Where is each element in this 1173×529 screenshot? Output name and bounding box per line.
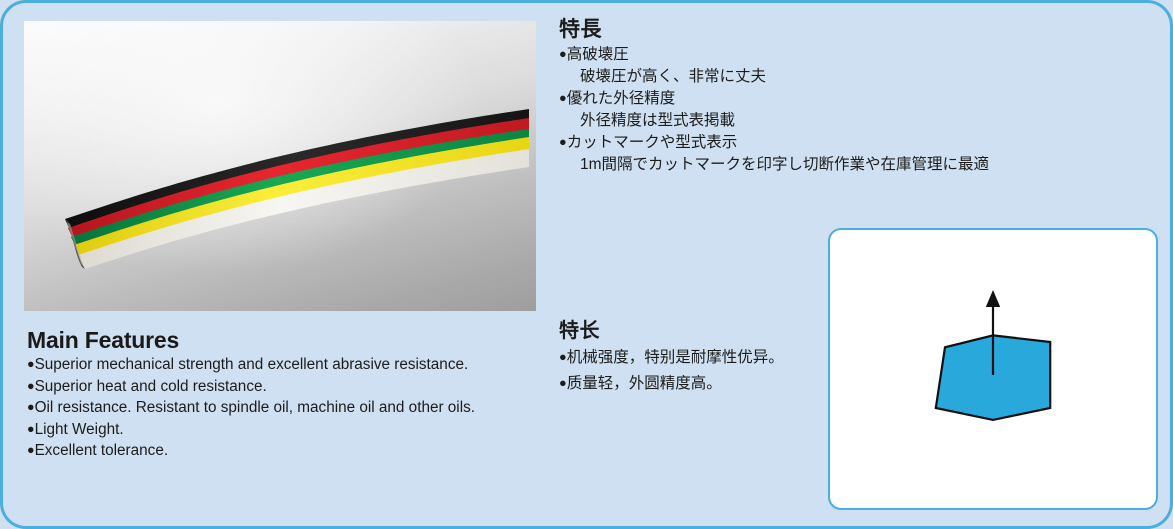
feature-text: Excellent tolerance. [35,442,169,459]
product-photo-frame [24,21,536,311]
main-features-list: ●Superior mechanical strength and excell… [27,354,537,462]
performance-radar-panel [828,228,1158,510]
jp-item-title: カットマークや型式表示 [567,134,738,151]
jp-features-heading: 特長 [559,17,1159,43]
feature-text: Light Weight. [35,421,124,438]
list-item: ●Superior mechanical strength and excell… [27,354,537,376]
jp-item-title: 優れた外径精度 [567,90,676,107]
feature-text: 质量轻，外圆精度高。 [567,375,722,392]
feature-text: Superior mechanical strength and excelle… [35,356,469,373]
list-item: ●机械强度，特别是耐摩性优异。 [559,344,839,370]
bullet-icon: ● [559,46,567,61]
radar-axis-arrow-flexibility [986,290,1000,307]
chinese-features-block: 特长 ●机械强度，特别是耐摩性优异。 ●质量轻，外圆精度高。 [559,319,839,396]
bullet-icon: ● [559,134,567,149]
tube-ribbon-illustration [24,21,536,311]
bullet-icon: ● [27,379,35,393]
jp-item-detail: 1m間隔でカットマークを印字し切断作業や在庫管理に最適 [559,154,1159,176]
bullet-icon: ● [559,375,567,390]
list-item: ●Superior heat and cold resistance. [27,376,537,398]
list-item: ●质量轻，外圆精度高。 [559,370,839,396]
bullet-icon: ● [27,400,35,414]
feature-text: 机械强度，特别是耐摩性优异。 [567,349,784,366]
cn-features-heading: 特长 [559,319,839,344]
english-features-block: Main Features ●Superior mechanical stren… [27,327,537,462]
page-container: 特長 ●高破壊圧 破壊圧が高く、非常に丈夫 ●優れた外径精度 外径精度は型式表掲… [0,0,1173,529]
jp-item-title: 高破壊圧 [567,46,629,63]
japanese-features-block: 特長 ●高破壊圧 破壊圧が高く、非常に丈夫 ●優れた外径精度 外径精度は型式表掲… [559,17,1159,175]
bullet-icon: ● [559,90,567,105]
main-features-heading: Main Features [27,327,537,354]
jp-item-detail: 破壊圧が高く、非常に丈夫 [559,66,1159,88]
list-item: ●Excellent tolerance. [27,440,537,462]
bullet-icon: ● [559,349,567,364]
list-item: ●Oil resistance. Resistant to spindle oi… [27,397,537,419]
feature-text: Superior heat and cold resistance. [35,378,267,395]
bullet-icon: ● [27,422,35,436]
product-photo [24,21,536,311]
list-item: ●Light Weight. [27,419,537,441]
performance-radar-chart [830,230,1156,508]
jp-features-list: ●高破壊圧 破壊圧が高く、非常に丈夫 ●優れた外径精度 外径精度は型式表掲載 ●… [559,43,1159,175]
list-item: ●高破壊圧 [559,43,1159,66]
feature-text: Oil resistance. Resistant to spindle oil… [35,399,475,416]
bullet-icon: ● [27,443,35,457]
cn-features-list: ●机械强度，特别是耐摩性优异。 ●质量轻，外圆精度高。 [559,344,839,396]
list-item: ●カットマークや型式表示 [559,131,1159,154]
list-item: ●優れた外径精度 [559,87,1159,110]
jp-item-detail: 外径精度は型式表掲載 [559,110,1159,132]
bullet-icon: ● [27,357,35,371]
